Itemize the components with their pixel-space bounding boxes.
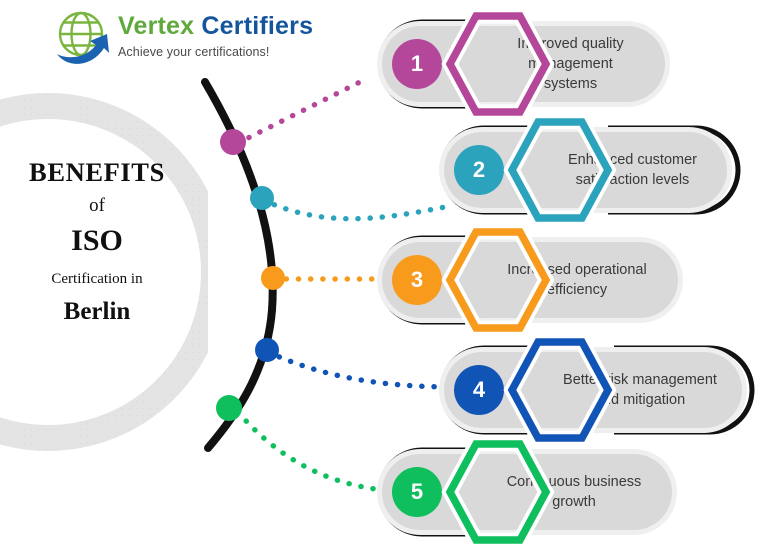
spine-dot-1 <box>220 129 246 155</box>
benefit-row-5[interactable]: 5 Continuous business growth <box>370 440 675 544</box>
infographic-canvas: Vertex Certifiers Achieve your certifica… <box>0 0 768 545</box>
row-number-3: 3 <box>392 255 442 305</box>
spine-dot-5 <box>216 395 242 421</box>
brand-wordmark: Vertex Certifiers Achieve your certifica… <box>118 14 313 59</box>
brand-name: Vertex Certifiers <box>118 14 313 39</box>
brand-name-part1: Vertex <box>118 12 194 40</box>
row-number-4: 4 <box>454 365 504 415</box>
benefit-row-2[interactable]: 2 Enhanced customer satisfaction levels <box>432 118 748 222</box>
connector-line-2 <box>263 200 450 219</box>
row-hexagon-3 <box>446 228 550 332</box>
connector-line-1 <box>238 82 360 143</box>
row-number-1: 1 <box>392 39 442 89</box>
row-hexagon-4 <box>508 338 612 442</box>
row-hexagon-2 <box>508 118 612 222</box>
spine-dot-3 <box>261 266 285 290</box>
brand-tagline: Achieve your certifications! <box>118 45 313 59</box>
benefit-row-3[interactable]: 3 Increased operational efficiency <box>370 228 682 332</box>
row-hexagon-1 <box>446 12 550 116</box>
benefit-row-1[interactable]: 1 Improved quality management systems <box>370 12 670 116</box>
row-number-2: 2 <box>454 145 504 195</box>
spine-dot-4 <box>255 338 279 362</box>
row-hexagon-5 <box>446 440 550 544</box>
brand-name-part2: Certifiers <box>201 12 313 40</box>
globe-arrow-logo-icon <box>52 8 114 68</box>
benefit-row-4[interactable]: 4 Better risk management and mitigation <box>432 338 762 442</box>
row-number-5: 5 <box>392 467 442 517</box>
spine-dot-2 <box>250 186 274 210</box>
connector-line-4 <box>268 352 455 387</box>
